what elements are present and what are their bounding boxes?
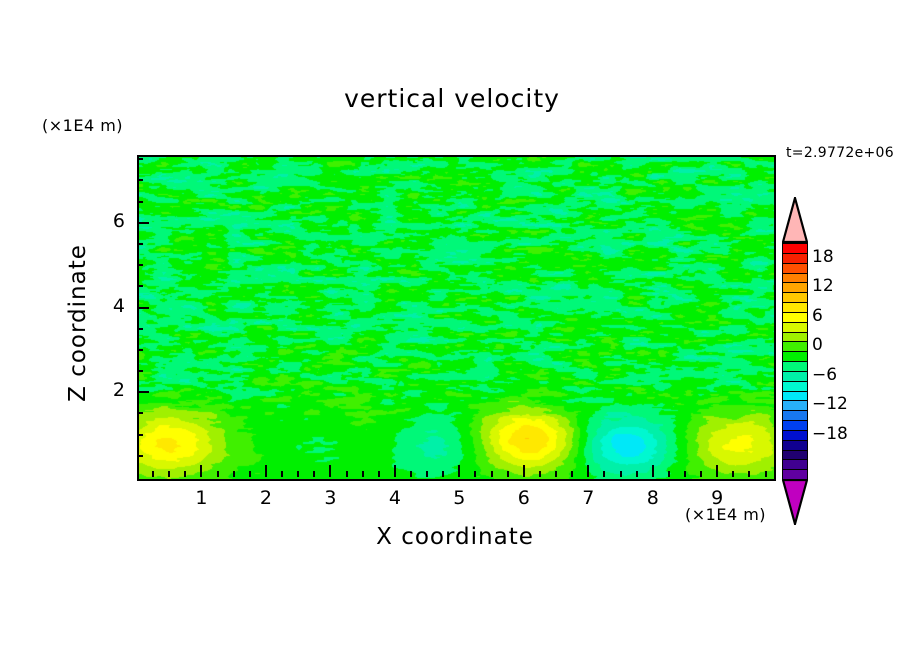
- chart-title: vertical velocity: [0, 84, 904, 113]
- x-tick-label-2: 2: [246, 487, 286, 509]
- x-tick-minor: [346, 471, 348, 477]
- x-tick-minor: [362, 471, 364, 477]
- x-tick-minor: [249, 471, 251, 477]
- x-tick-label-6: 6: [504, 487, 544, 509]
- x-tick-minor: [620, 471, 622, 477]
- colorbar-over-arrow: [782, 197, 808, 243]
- x-tick-major-7: [587, 465, 589, 477]
- y-tick-minor: [137, 434, 143, 436]
- x-tick-label-5: 5: [439, 487, 479, 509]
- y-tick-minor: [137, 349, 143, 351]
- y-tick-major-6: [137, 222, 149, 224]
- x-tick-major-1: [200, 465, 202, 477]
- y-tick-label-6: 6: [93, 210, 125, 232]
- y-tick-major-2: [137, 391, 149, 393]
- x-tick-minor: [442, 471, 444, 477]
- x-tick-major-6: [523, 465, 525, 477]
- x-tick-label-1: 1: [181, 487, 221, 509]
- x-tick-minor: [684, 471, 686, 477]
- x-tick-major-8: [652, 465, 654, 477]
- y-tick-major-4: [137, 307, 149, 309]
- timestamp-annotation: t=2.9772e+06: [786, 145, 894, 161]
- x-tick-minor: [152, 471, 154, 477]
- y-tick-minor: [137, 412, 143, 414]
- y-tick-minor: [137, 264, 143, 266]
- colorbar: 181260−6−12−18: [782, 243, 808, 479]
- y-axis-title: Z coordinate: [65, 183, 91, 463]
- x-tick-minor: [765, 471, 767, 477]
- x-tick-label-8: 8: [633, 487, 673, 509]
- y-tick-minor: [137, 285, 143, 287]
- contour-plot-area: [137, 155, 776, 481]
- colorbar-label-2: 6: [812, 306, 823, 326]
- contour-field: [139, 157, 774, 479]
- x-tick-minor: [748, 471, 750, 477]
- y-tick-minor: [137, 179, 143, 181]
- y-tick-label-4: 4: [93, 295, 125, 317]
- y-tick-minor: [137, 328, 143, 330]
- x-tick-minor: [168, 471, 170, 477]
- x-tick-label-3: 3: [310, 487, 350, 509]
- x-tick-minor: [636, 471, 638, 477]
- x-tick-minor: [378, 471, 380, 477]
- colorbar-label-0: 18: [812, 247, 834, 267]
- y-axis-unit-label: (×1E4 m): [42, 116, 123, 135]
- x-tick-minor: [555, 471, 557, 477]
- x-tick-minor: [281, 471, 283, 477]
- x-tick-label-7: 7: [568, 487, 608, 509]
- x-tick-major-5: [458, 465, 460, 477]
- y-tick-minor: [137, 370, 143, 372]
- colorbar-label-6: −18: [812, 424, 848, 444]
- colorbar-label-4: −6: [812, 365, 837, 385]
- colorbar-label-1: 12: [812, 276, 834, 296]
- colorbar-under-arrow: [782, 479, 808, 525]
- colorbar-label-5: −12: [812, 394, 848, 414]
- x-tick-minor: [700, 471, 702, 477]
- x-tick-minor: [603, 471, 605, 477]
- x-tick-label-4: 4: [375, 487, 415, 509]
- x-tick-minor: [732, 471, 734, 477]
- x-tick-minor: [507, 471, 509, 477]
- x-tick-minor: [217, 471, 219, 477]
- x-tick-minor: [184, 471, 186, 477]
- y-tick-minor: [137, 243, 143, 245]
- x-tick-minor: [297, 471, 299, 477]
- x-axis-unit-label: (×1E4 m): [685, 505, 766, 524]
- x-tick-minor: [233, 471, 235, 477]
- x-tick-minor: [571, 471, 573, 477]
- x-tick-minor: [539, 471, 541, 477]
- x-tick-minor: [426, 471, 428, 477]
- colorbar-label-3: 0: [812, 335, 823, 355]
- x-tick-minor: [668, 471, 670, 477]
- y-tick-label-2: 2: [93, 379, 125, 401]
- y-tick-minor: [137, 158, 143, 160]
- y-tick-minor: [137, 201, 143, 203]
- x-tick-major-4: [394, 465, 396, 477]
- x-axis-title: X coordinate: [280, 524, 630, 550]
- figure-canvas: vertical velocity (×1E4 m) t=2.9772e+06 …: [0, 0, 904, 654]
- x-tick-major-3: [329, 465, 331, 477]
- x-tick-major-2: [265, 465, 267, 477]
- x-tick-minor: [313, 471, 315, 477]
- x-tick-minor: [410, 471, 412, 477]
- x-tick-minor: [491, 471, 493, 477]
- y-tick-minor: [137, 455, 143, 457]
- x-tick-minor: [474, 471, 476, 477]
- x-tick-major-9: [716, 465, 718, 477]
